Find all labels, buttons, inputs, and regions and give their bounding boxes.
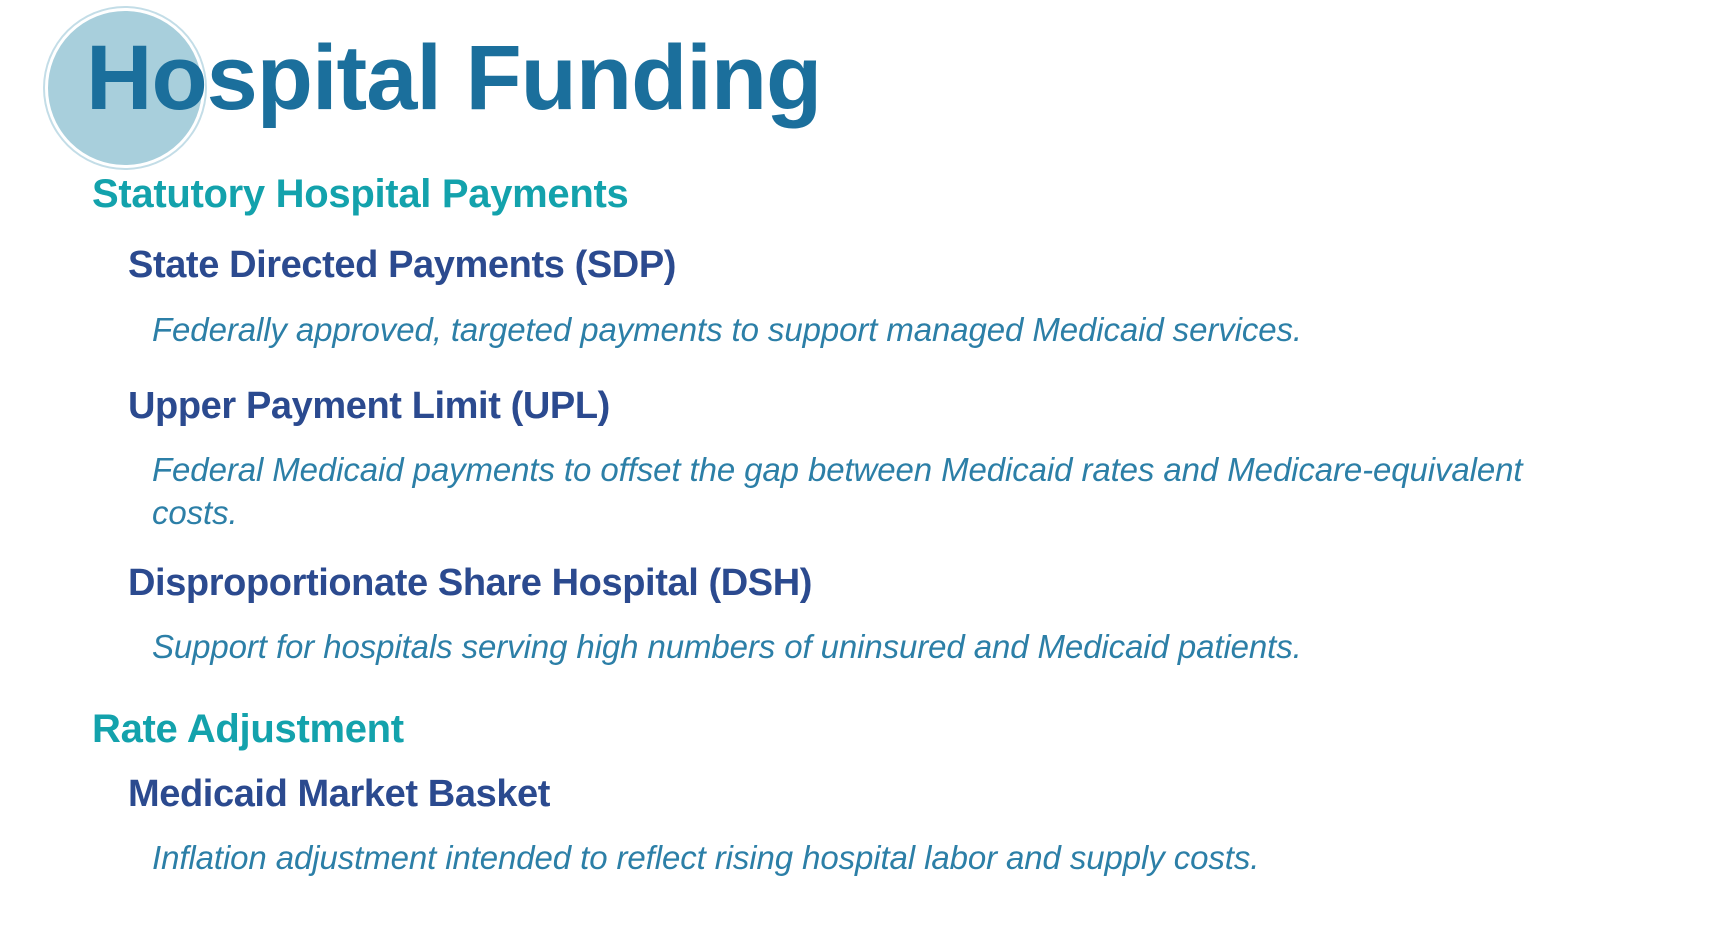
item-title: Disproportionate Share Hospital (DSH) bbox=[0, 562, 1710, 605]
item-description: Federally approved, targeted payments to… bbox=[0, 309, 1710, 351]
title-block: Hospital Funding bbox=[0, 0, 1710, 172]
section-rate-adjustment: Rate Adjustment Medicaid Market Basket I… bbox=[0, 707, 1710, 880]
section-body: Medicaid Market Basket Inflation adjustm… bbox=[0, 773, 1710, 880]
item-state-directed-payments: State Directed Payments (SDP) Federally … bbox=[0, 244, 1710, 351]
section-statutory-hospital-payments: Statutory Hospital Payments State Direct… bbox=[0, 172, 1710, 669]
section-header: Statutory Hospital Payments bbox=[0, 172, 1710, 216]
item-upper-payment-limit: Upper Payment Limit (UPL) Federal Medica… bbox=[0, 385, 1710, 534]
item-description: Support for hospitals serving high numbe… bbox=[0, 626, 1710, 668]
page-title: Hospital Funding bbox=[86, 30, 821, 127]
item-title: State Directed Payments (SDP) bbox=[0, 244, 1710, 287]
item-title: Medicaid Market Basket bbox=[0, 773, 1710, 816]
item-medicaid-market-basket: Medicaid Market Basket Inflation adjustm… bbox=[0, 773, 1710, 880]
item-disproportionate-share-hospital: Disproportionate Share Hospital (DSH) Su… bbox=[0, 562, 1710, 669]
item-description: Federal Medicaid payments to offset the … bbox=[0, 449, 1710, 533]
section-header: Rate Adjustment bbox=[0, 707, 1710, 751]
item-description: Inflation adjustment intended to reflect… bbox=[0, 837, 1710, 879]
section-body: State Directed Payments (SDP) Federally … bbox=[0, 244, 1710, 669]
slide-root: Hospital Funding Statutory Hospital Paym… bbox=[0, 0, 1710, 936]
item-title: Upper Payment Limit (UPL) bbox=[0, 385, 1710, 428]
